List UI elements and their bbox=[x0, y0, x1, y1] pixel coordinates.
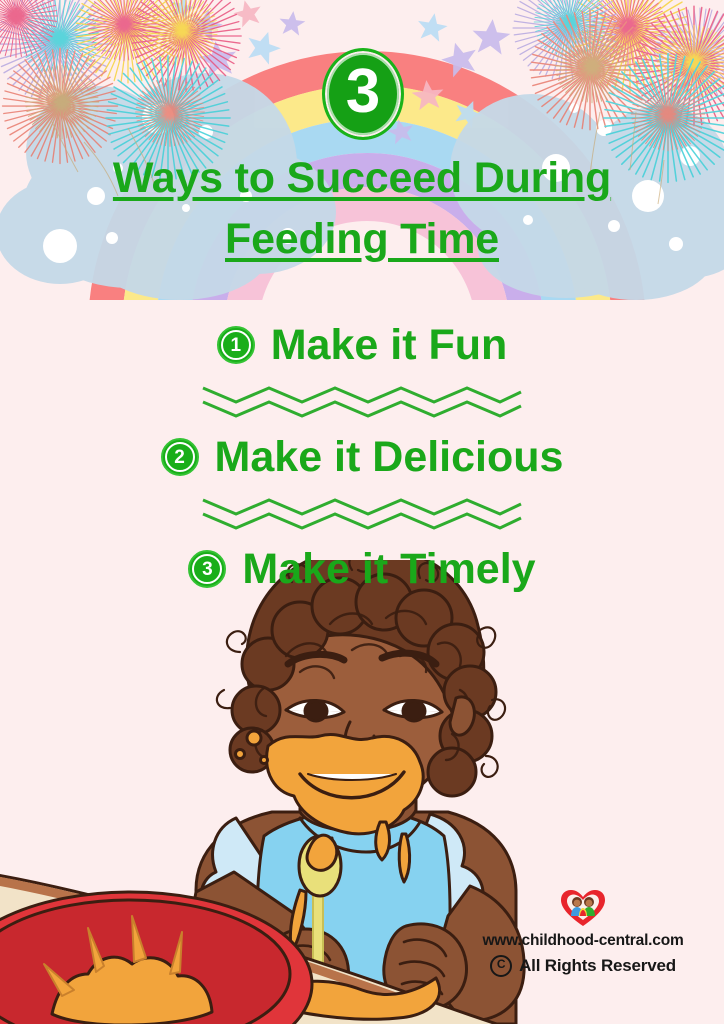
tip-label-3: Make it Timely bbox=[242, 548, 535, 591]
tips-list: 1 Make it Fun 2 Make it Delicious bbox=[0, 312, 724, 602]
list-item: 1 Make it Fun bbox=[0, 312, 724, 378]
tip-number-badge-2: 2 bbox=[161, 438, 199, 476]
poster-canvas: 3 Ways to Succeed During Feeding Time 1 … bbox=[0, 0, 724, 1024]
tip-number-badge-1: 1 bbox=[217, 326, 255, 364]
tip-number-glyph: 3 bbox=[190, 552, 224, 586]
footer: www.childhood-central.com C All Rights R… bbox=[452, 888, 714, 977]
page-title-line-1: Ways to Succeed During bbox=[113, 148, 611, 209]
number-three-badge: 3 bbox=[322, 48, 404, 140]
badge-number-text: 3 bbox=[322, 48, 404, 140]
copyright-icon: C bbox=[490, 955, 512, 977]
page-title: Ways to Succeed During Feeding Time bbox=[0, 148, 724, 270]
list-item: 3 Make it Timely bbox=[0, 536, 724, 602]
tip-number-glyph: 1 bbox=[219, 328, 253, 362]
rights-text: All Rights Reserved bbox=[519, 956, 676, 976]
page-title-line-2: Feeding Time bbox=[225, 209, 499, 270]
heart-children-logo bbox=[559, 888, 607, 928]
tip-label-1: Make it Fun bbox=[271, 324, 508, 367]
website-url[interactable]: www.childhood-central.com bbox=[452, 932, 714, 950]
tip-label-2: Make it Delicious bbox=[215, 436, 564, 479]
zigzag-divider-1 bbox=[0, 378, 724, 424]
copyright-line: C All Rights Reserved bbox=[452, 955, 714, 977]
zigzag-divider-2 bbox=[0, 490, 724, 536]
tip-number-badge-3: 3 bbox=[188, 550, 226, 588]
tip-number-glyph: 2 bbox=[163, 440, 197, 474]
list-item: 2 Make it Delicious bbox=[0, 424, 724, 490]
